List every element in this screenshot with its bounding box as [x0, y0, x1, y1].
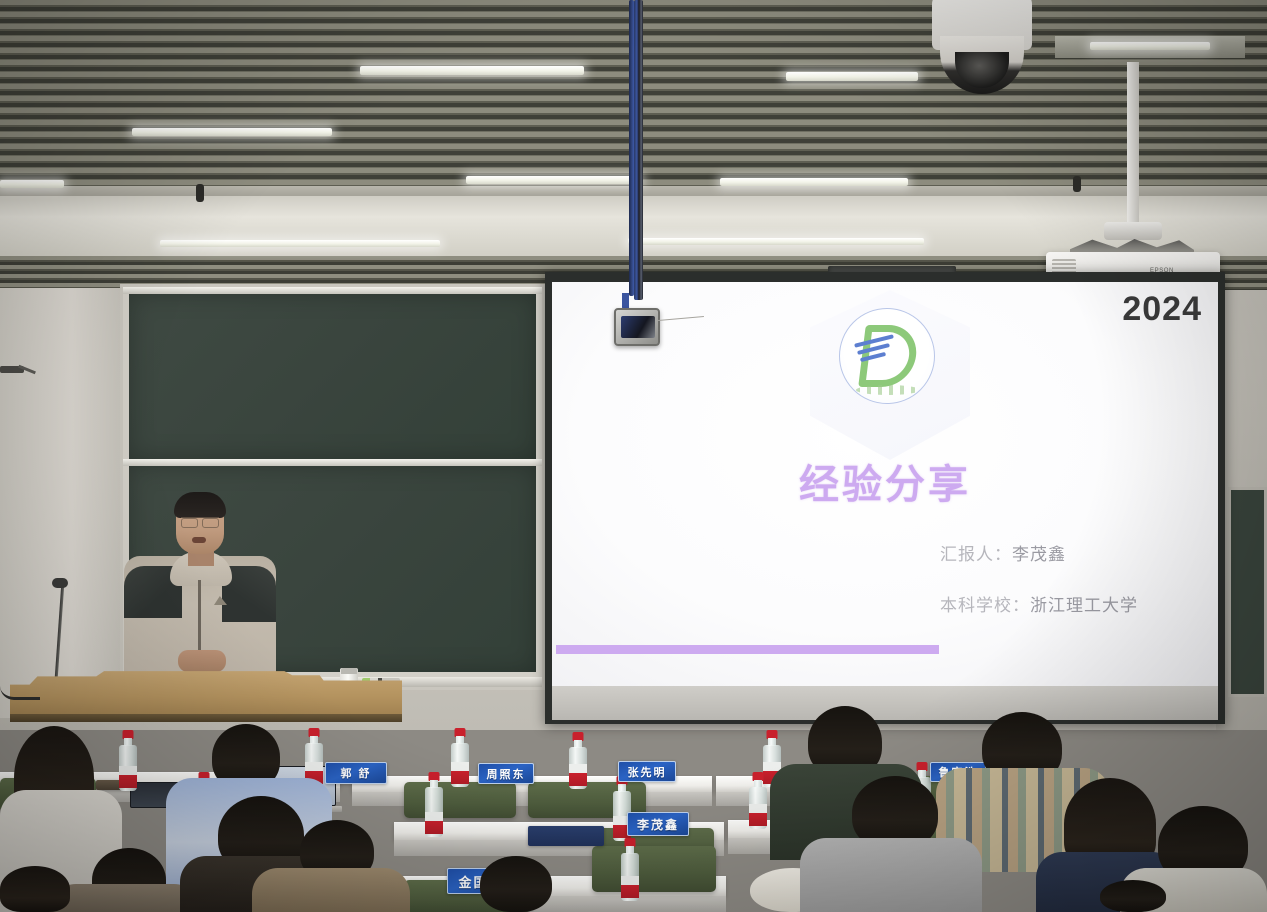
audience-head — [1100, 880, 1166, 912]
audience-torso — [50, 884, 200, 912]
slide-school-name: 浙江理工大学 — [1030, 596, 1138, 615]
podium-cable — [0, 684, 40, 700]
water-bottle — [568, 732, 588, 786]
microphone-head-icon — [52, 578, 68, 588]
university-emblem-logo — [839, 308, 935, 404]
slide-title: 经验分享 — [552, 452, 1218, 510]
wall-pillar-left — [0, 288, 120, 718]
screen-bottom-wall-strip — [552, 686, 1218, 720]
chair — [592, 846, 716, 892]
chalkboard-panel-upper — [129, 294, 536, 459]
bottle-label — [621, 876, 639, 898]
slide-school-line: 本科学校：浙江理工大学 — [940, 591, 1210, 616]
document-folder — [528, 826, 604, 846]
presenter-mouth — [192, 537, 206, 543]
bottle-label — [119, 766, 137, 788]
presenter-hands — [178, 650, 226, 672]
name-placard: 李茂鑫 — [627, 812, 689, 836]
name-placard: 张先明 — [618, 761, 676, 782]
ceiling-light-tube — [132, 128, 332, 136]
projector-mount-rod — [1127, 62, 1139, 224]
presenter-hair — [174, 492, 226, 518]
ceiling-light-tube — [1090, 42, 1210, 50]
water-bottle — [424, 772, 444, 834]
slide-presenter-name: 李茂鑫 — [1012, 545, 1066, 564]
slide-school-label: 本科学校： — [940, 596, 1030, 615]
audience-torso — [800, 838, 982, 912]
ceiling-hook — [196, 184, 204, 202]
slide-presenter-label: 汇报人： — [940, 545, 1012, 564]
glasses-icon — [181, 517, 219, 525]
ceiling-light-tube — [466, 176, 642, 184]
slide-metadata: 汇报人：李茂鑫 本科学校：浙江理工大学 — [940, 540, 1210, 642]
podium-base-shadow — [10, 714, 402, 722]
ceiling-light-tube — [360, 66, 584, 75]
projector-mount-plate — [1104, 222, 1162, 240]
water-bottle — [748, 772, 768, 826]
bottle-label — [425, 812, 443, 834]
cable-bundle — [634, 0, 643, 300]
ceiling-light-tube — [720, 178, 908, 186]
logo-arc-text — [856, 385, 920, 395]
chalkboard-right-panel — [1228, 487, 1267, 697]
bottle-label — [749, 804, 767, 826]
ceiling-light-tube — [628, 238, 924, 245]
ceiling-light-tube — [786, 72, 918, 81]
cable-connector-box — [614, 308, 660, 346]
bottle-label — [569, 764, 587, 786]
audience-hair — [0, 866, 70, 912]
water-bottle — [304, 728, 324, 784]
audience-head — [480, 856, 552, 912]
chair — [404, 782, 516, 818]
water-bottle — [118, 730, 138, 788]
slide-year: 2024 — [1122, 290, 1202, 329]
audience-torso — [252, 868, 410, 912]
name-placard: 郭 舒 — [325, 762, 387, 784]
slide-presenter-line: 汇报人：李茂鑫 — [940, 540, 1210, 565]
ceiling-light-tube — [0, 180, 64, 188]
ceiling-light-tube — [160, 240, 440, 247]
slide-accent-bar — [556, 645, 939, 654]
water-bottle — [620, 838, 640, 898]
chalkboard-rail-mid — [123, 459, 542, 466]
water-bottle — [450, 728, 470, 784]
chalkboard-rail-top — [123, 287, 542, 294]
bottle-label — [451, 762, 469, 784]
ceiling-hook — [1073, 176, 1081, 192]
classroom-photo: EPSON 2024 经验分享 汇报人：李茂鑫 — [0, 0, 1267, 912]
name-placard: 周照东 — [478, 763, 534, 784]
